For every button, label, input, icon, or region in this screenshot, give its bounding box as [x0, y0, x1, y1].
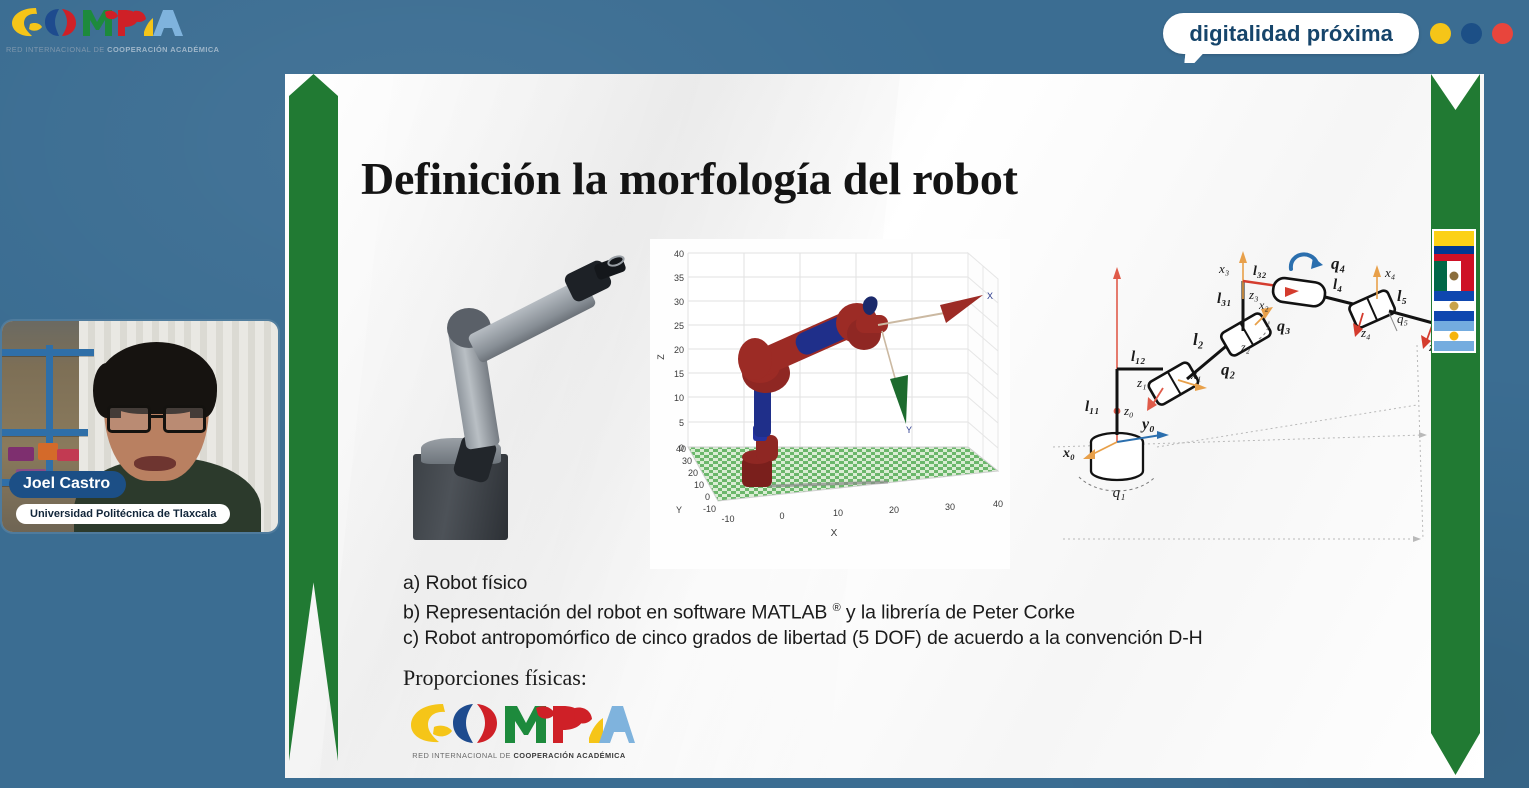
- video-feed: [2, 321, 278, 532]
- proportions-label: Proporciones físicas:: [403, 665, 587, 691]
- svg-text:z₁: z₁: [1136, 375, 1147, 390]
- flag-mexico: [1434, 261, 1474, 291]
- person-mouth: [134, 456, 175, 471]
- svg-text:20: 20: [688, 468, 698, 478]
- participant-video-tile[interactable]: Joel Castro Universidad Politécnica de T…: [2, 321, 278, 532]
- svg-text:30: 30: [682, 456, 692, 466]
- slide-accent-bar-right: [1431, 74, 1480, 775]
- svg-text:l₅: l₅: [1397, 288, 1407, 305]
- svg-text:q₁: q₁: [1113, 485, 1126, 501]
- svg-text:20: 20: [889, 505, 899, 515]
- header-logo-tagline: RED INTERNACIONAL DE COOPERACIÓN ACADÉMI…: [6, 45, 186, 54]
- shared-slide[interactable]: Definición la morfología del robot: [285, 74, 1484, 778]
- svg-text:l₁₂: l₁₂: [1131, 349, 1146, 365]
- svg-text:0: 0: [779, 511, 784, 521]
- glasses-bridge: [151, 415, 163, 418]
- flag-argentina: [1434, 321, 1474, 351]
- svg-text:X: X: [831, 528, 838, 539]
- svg-text:x₂: x₂: [1258, 298, 1269, 312]
- svg-text:x₃: x₃: [1218, 261, 1229, 276]
- shelf-item-1: [8, 447, 34, 461]
- dot-yellow-icon: [1430, 23, 1451, 44]
- svg-text:l₃₂: l₃₂: [1253, 264, 1267, 279]
- svg-text:x₄: x₄: [1384, 265, 1396, 280]
- svg-text:Y: Y: [906, 425, 912, 435]
- svg-text:q₄: q₄: [1331, 254, 1345, 273]
- lens-right: [163, 405, 207, 432]
- svg-text:l₂: l₂: [1193, 330, 1204, 349]
- svg-text:25: 25: [674, 321, 684, 331]
- caption-b-before: b) Representación del robot en software …: [403, 602, 833, 624]
- svg-text:l₁₁: l₁₁: [1085, 399, 1100, 415]
- caption-a: a) Robot físico: [403, 571, 1203, 596]
- svg-text:35: 35: [674, 273, 684, 283]
- svg-text:5: 5: [679, 418, 684, 428]
- svg-text:15: 15: [674, 369, 684, 379]
- svg-text:40: 40: [674, 249, 684, 259]
- figure-row: X Y 40 35 30 25 20 15 10 5: [365, 239, 1450, 569]
- svg-text:X: X: [987, 291, 993, 301]
- svg-text:-10: -10: [703, 504, 716, 514]
- svg-text:y₀: y₀: [1140, 416, 1155, 433]
- svg-text:l₃₁: l₃₁: [1217, 291, 1232, 307]
- shelf-middle: [2, 429, 88, 436]
- figure-a-physical-robot-photo: [395, 244, 625, 544]
- svg-text:-10: -10: [721, 514, 734, 524]
- figure-b-matlab-plot: X Y 40 35 30 25 20 15 10 5: [650, 239, 1010, 569]
- svg-text:z₂: z₂: [1240, 340, 1250, 354]
- compa-logo-mark: [6, 2, 186, 42]
- shelf-item-3: [57, 449, 79, 461]
- svg-text:30: 30: [674, 297, 684, 307]
- header-compa-logo: RED INTERNACIONAL DE COOPERACIÓN ACADÉMI…: [6, 2, 186, 54]
- matlab-3d-axes: X Y 40 35 30 25 20 15 10 5: [650, 239, 1010, 569]
- svg-text:q₃: q₃: [1277, 318, 1291, 335]
- svg-text:q₂: q₂: [1221, 360, 1236, 379]
- slide-logo-tagline: RED INTERNACIONAL DE COOPERACIÓN ACADÉMI…: [403, 751, 635, 760]
- slide-compa-logo: RED INTERNACIONAL DE COOPERACIÓN ACADÉMI…: [403, 698, 635, 760]
- dot-navy-icon: [1461, 23, 1482, 44]
- svg-text:10: 10: [674, 393, 684, 403]
- svg-text:q₅: q₅: [1397, 311, 1408, 326]
- figure-captions: a) Robot físico b) Representación del ro…: [403, 571, 1203, 651]
- svg-text:10: 10: [694, 480, 704, 490]
- shelf-item-2: [38, 443, 58, 460]
- figure-c-dh-diagram: q₁ z₀ y₀ x₀ l₁₁: [1045, 239, 1450, 569]
- page-title: Definición la morfología del robot: [361, 152, 1018, 205]
- caption-b: b) Representación del robot en software …: [403, 596, 1203, 626]
- svg-text:z₃: z₃: [1248, 287, 1259, 302]
- svg-text:20: 20: [674, 345, 684, 355]
- compa-logo-mark-footer: [403, 698, 635, 744]
- registered-mark: ®: [833, 602, 841, 614]
- flag-colombia: [1434, 231, 1474, 261]
- caption-c: c) Robot antropomórfico de cinco grados …: [403, 626, 1203, 651]
- svg-text:40: 40: [676, 444, 686, 454]
- eyeglasses-icon: [107, 405, 206, 432]
- svg-text:z₀: z₀: [1123, 403, 1134, 418]
- flag-el-salvador: [1434, 291, 1474, 321]
- svg-text:x₀: x₀: [1062, 446, 1075, 461]
- speech-bubble-tail: [1185, 52, 1205, 63]
- caption-b-after: y la librería de Peter Corke: [841, 602, 1075, 624]
- svg-text:l₄: l₄: [1333, 277, 1342, 293]
- svg-text:30: 30: [945, 502, 955, 512]
- participant-organization: Universidad Politécnica de Tlaxcala: [16, 504, 230, 524]
- lens-left: [107, 405, 151, 432]
- dh-frames-svg: q₁ z₀ y₀ x₀ l₁₁: [1045, 239, 1450, 569]
- svg-text:40: 40: [993, 499, 1003, 509]
- brand-badge: digitalidad próxima: [1163, 13, 1419, 54]
- dot-red-icon: [1492, 23, 1513, 44]
- svg-text:Z: Z: [656, 354, 666, 360]
- brand-dots: [1430, 23, 1513, 44]
- participant-name: Joel Castro: [9, 471, 126, 498]
- flag-strip: [1432, 229, 1476, 353]
- meeting-stage: RED INTERNACIONAL DE COOPERACIÓN ACADÉMI…: [0, 0, 1529, 788]
- svg-text:Y: Y: [676, 505, 682, 515]
- svg-text:z₄: z₄: [1360, 325, 1371, 340]
- brand-badge-label: digitalidad próxima: [1189, 21, 1393, 47]
- svg-text:0: 0: [705, 492, 710, 502]
- svg-text:10: 10: [833, 508, 843, 518]
